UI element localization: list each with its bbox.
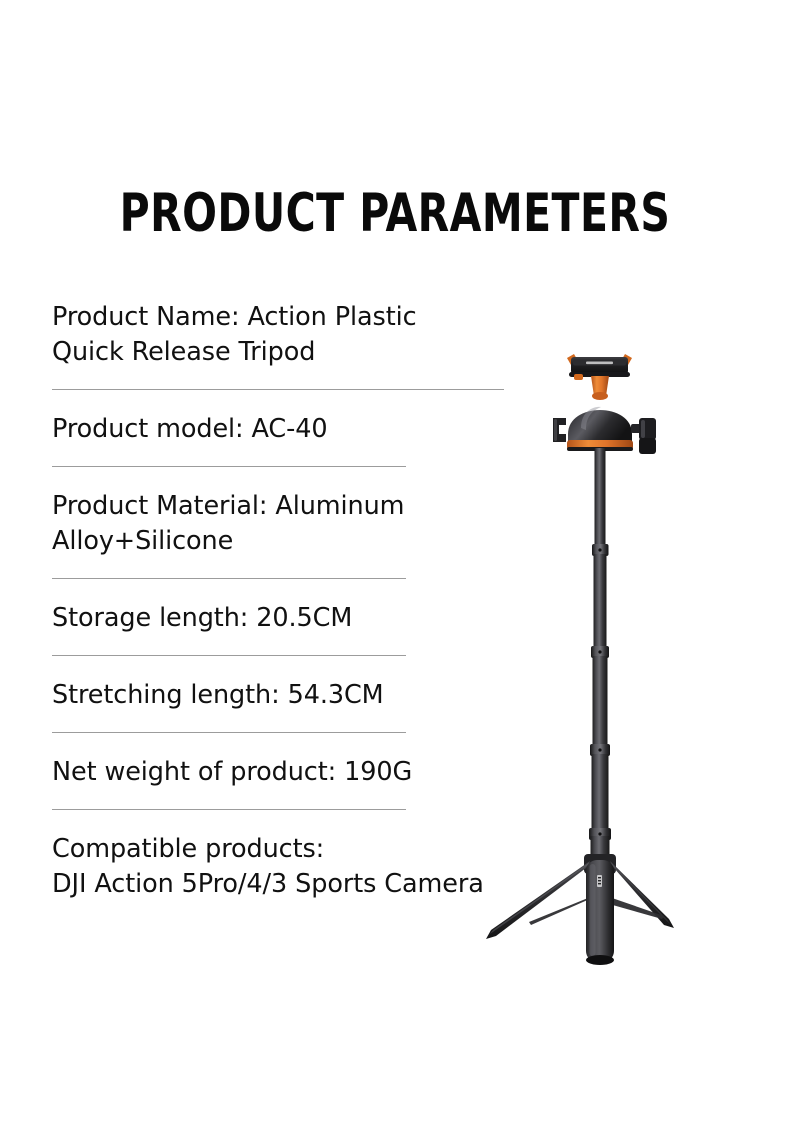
page-title: PRODUCT PARAMETERS bbox=[55, 183, 734, 245]
spec-row-product-model: Product model: AC-40 bbox=[52, 412, 522, 447]
grip-bottom-cap bbox=[586, 955, 614, 965]
tripod-illustration bbox=[455, 330, 705, 970]
grip-marking-line-1 bbox=[598, 877, 601, 878]
spacer bbox=[52, 370, 522, 389]
spec-text: Storage length: 20.5CM bbox=[52, 601, 522, 636]
spacer bbox=[52, 579, 522, 601]
pole-segment-2 bbox=[594, 554, 607, 650]
pole-segment-4 bbox=[592, 754, 609, 832]
leg-right-highlight bbox=[610, 862, 670, 924]
spacer bbox=[52, 559, 522, 578]
pole-segment-1 bbox=[595, 448, 606, 548]
spacer bbox=[52, 636, 522, 655]
joint-pin-4 bbox=[598, 832, 601, 835]
spec-text: Product Name: Action Plastic Quick Relea… bbox=[52, 300, 522, 370]
center-grip bbox=[586, 860, 614, 965]
plate-release-lever bbox=[574, 374, 583, 380]
side-clamp-arm bbox=[553, 418, 566, 442]
ball-stem bbox=[591, 376, 609, 400]
ball-head bbox=[567, 407, 633, 451]
grip-marking-line-2 bbox=[598, 880, 601, 881]
spec-text: Net weight of product: 190G bbox=[52, 755, 522, 790]
spec-row-stretching-length: Stretching length: 54.3CM bbox=[52, 678, 522, 713]
spacer bbox=[52, 713, 522, 732]
spec-text: Product Material: Aluminum Alloy+Silicon… bbox=[52, 489, 522, 559]
spacer bbox=[52, 733, 522, 755]
grip-highlight bbox=[590, 864, 596, 956]
spec-row-product-material: Product Material: Aluminum Alloy+Silicon… bbox=[52, 489, 522, 559]
brand-mark bbox=[586, 362, 613, 365]
spacer bbox=[52, 467, 522, 489]
joint-pin-3 bbox=[598, 748, 601, 751]
spacer bbox=[52, 656, 522, 678]
knob-highlight bbox=[641, 420, 645, 438]
product-parameters-page: PRODUCT PARAMETERS Product Name: Action … bbox=[0, 0, 790, 1129]
stem-base bbox=[592, 392, 608, 400]
grip-marking-line-3 bbox=[598, 883, 601, 884]
telescoping-pole bbox=[589, 448, 611, 862]
spec-row-storage-length: Storage length: 20.5CM bbox=[52, 601, 522, 636]
tripod-legs bbox=[486, 854, 674, 939]
pole-segment-3 bbox=[593, 656, 608, 748]
spacer bbox=[52, 790, 522, 809]
clamp-arm-highlight bbox=[554, 419, 557, 441]
spacer bbox=[52, 810, 522, 832]
spec-list: Product Name: Action Plastic Quick Relea… bbox=[52, 300, 522, 902]
spec-text: Stretching length: 54.3CM bbox=[52, 678, 522, 713]
spec-text: Product model: AC-40 bbox=[52, 412, 522, 447]
spec-text: Compatible products: DJI Action 5Pro/4/3… bbox=[52, 832, 522, 902]
joint-pin-1 bbox=[598, 548, 601, 551]
knob-stem bbox=[639, 438, 656, 454]
leg-left-highlight bbox=[490, 862, 590, 934]
spacer bbox=[52, 447, 522, 466]
spacer bbox=[52, 390, 522, 412]
pan-lock-knob bbox=[631, 418, 656, 454]
spec-row-compatible-products: Compatible products: DJI Action 5Pro/4/3… bbox=[52, 832, 522, 902]
joint-pin-2 bbox=[598, 650, 601, 653]
spec-row-product-name: Product Name: Action Plastic Quick Relea… bbox=[52, 300, 522, 370]
product-image bbox=[455, 330, 705, 970]
ball-head-body bbox=[568, 410, 632, 442]
spec-row-net-weight: Net weight of product: 190G bbox=[52, 755, 522, 790]
